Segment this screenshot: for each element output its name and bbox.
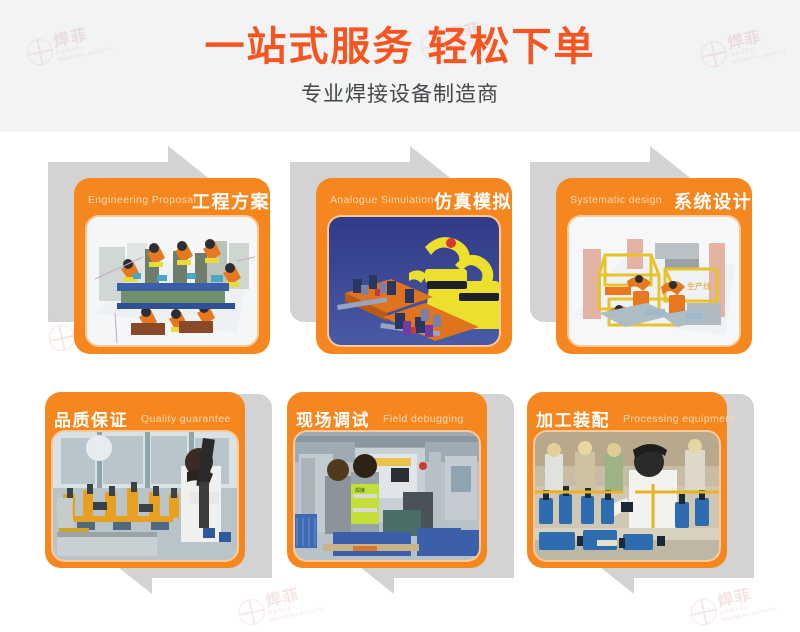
- card-photo: [53, 432, 237, 560]
- service-card-grid: 焊菲 HANFEI 焊接设备机器人自动化生产线 焊菲 HANFEI 焊接设备机器…: [0, 132, 800, 632]
- card-photo: [329, 217, 499, 345]
- service-card[interactable]: Systematic design 系统设计: [522, 146, 762, 376]
- page-title: 一站式服务 轻松下单: [204, 24, 595, 70]
- card-title: 加工装配: [536, 406, 610, 431]
- card-photo: 生产线: [569, 217, 739, 345]
- svg-text:生产线: 生产线: [687, 281, 711, 291]
- promo-banner-page: 焊菲 HANFEI 焊接设备机器人自动化生产线 焊菲 HANFEI 焊接设备机器…: [0, 0, 800, 632]
- card-subtitle: Engineering Proposal: [88, 194, 196, 206]
- card-label: 加工装配 Processing equipment: [536, 406, 735, 431]
- page-subtitle: 专业焊接设备制造商: [301, 78, 499, 108]
- card-subtitle: Quality guarantee: [141, 413, 231, 425]
- card-subtitle: Analogue Simulation: [330, 194, 434, 206]
- service-card[interactable]: 品质保证 Quality guarantee: [40, 384, 280, 614]
- card-title: 仿真模拟: [434, 188, 512, 214]
- card-subtitle: Systematic design: [570, 194, 662, 206]
- card-title: 现场调试: [296, 406, 370, 431]
- service-card[interactable]: Engineering Proposal 工程方案: [40, 146, 280, 376]
- card-subtitle: Processing equipment: [623, 413, 735, 425]
- card-photo: [87, 217, 257, 345]
- service-card[interactable]: 加工装配 Processing equipment: [522, 384, 762, 614]
- svg-text:焊接: 焊接: [355, 487, 365, 494]
- header-band: 焊菲 HANFEI 焊接设备机器人自动化生产线 焊菲 HANFEI 焊接设备机器…: [0, 0, 800, 132]
- card-title: 系统设计: [674, 188, 752, 214]
- card-title: 品质保证: [54, 406, 128, 431]
- service-card[interactable]: 现场调试 Field debugging: [282, 384, 522, 614]
- card-photo: [535, 432, 719, 560]
- card-subtitle: Field debugging: [383, 413, 464, 425]
- card-title: 工程方案: [192, 188, 270, 214]
- card-label: 品质保证 Quality guarantee: [54, 406, 231, 431]
- card-label: 现场调试 Field debugging: [296, 406, 464, 431]
- card-photo: 焊接: [295, 432, 479, 560]
- service-card[interactable]: Analogue Simulation 仿真模拟: [282, 146, 522, 376]
